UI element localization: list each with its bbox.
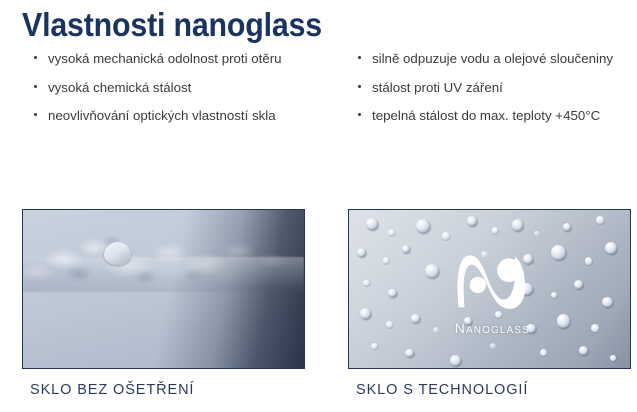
water-droplet: [363, 280, 370, 287]
list-item-label: vysoká mechanická odolnost proti otěru: [48, 51, 282, 66]
feature-list-right: silně odpuzuje vodu a olejové sloučeniny…: [357, 50, 632, 125]
water-droplet: [563, 223, 571, 231]
feature-list-left: vysoká mechanická odolnost proti otěru v…: [33, 50, 333, 125]
bullet-dot-icon: [358, 113, 361, 116]
treated-glass-photo: Nanoglass: [348, 209, 631, 369]
bullet-dot-icon: [34, 56, 37, 59]
water-droplet: [602, 297, 613, 308]
water-droplet: [610, 355, 616, 361]
bullet-dot-icon: [34, 113, 37, 116]
water-droplet: [383, 257, 389, 263]
list-item: tepelná stálost do max. teploty +450°C: [357, 107, 632, 125]
list-item: vysoká mechanická odolnost proti otěru: [33, 50, 333, 68]
untreated-glass-surface: [23, 210, 304, 368]
water-film-edge: [23, 257, 304, 292]
list-item-label: silně odpuzuje vodu a olejové sloučeniny: [372, 51, 613, 66]
untreated-glass-photo: [22, 209, 305, 369]
list-item: neovlivňování optických vlastností skla: [33, 107, 333, 125]
list-item-label: neovlivňování optických vlastností skla: [48, 108, 276, 123]
water-droplet: [366, 218, 378, 230]
water-droplet: [492, 227, 498, 233]
bullet-dot-icon: [358, 85, 361, 88]
water-droplet: [388, 229, 395, 236]
list-item: stálost proti UV záření: [357, 79, 632, 97]
list-item-label: stálost proti UV záření: [372, 80, 503, 95]
water-droplet: [450, 355, 461, 366]
water-droplet: [386, 321, 393, 328]
water-droplet: [557, 314, 570, 327]
water-blob: [104, 242, 131, 266]
list-item: vysoká chemická stálost: [33, 79, 333, 97]
water-droplet: [591, 324, 599, 332]
treated-glass-surface: Nanoglass: [349, 210, 630, 368]
water-droplet: [495, 311, 502, 318]
page-title: Vlastnosti nanoglass: [22, 6, 322, 44]
water-droplet: [467, 216, 477, 225]
bullet-dot-icon: [34, 85, 37, 88]
water-droplet: [481, 251, 488, 258]
water-droplet: [512, 219, 523, 230]
water-droplet: [585, 257, 592, 264]
caption-untreated: SKLO BEZ OŠETŘENÍ: [30, 381, 194, 400]
water-droplet: [526, 324, 536, 333]
list-item: silně odpuzuje vodu a olejové sloučeniny: [357, 50, 632, 68]
bullet-dot-icon: [358, 56, 361, 59]
water-droplet: [388, 289, 396, 297]
list-item-label: vysoká chemická stálost: [48, 80, 191, 95]
water-droplet: [442, 232, 450, 240]
list-item-label: tepelná stálost do max. teploty +450°C: [372, 108, 600, 123]
water-droplet: [490, 343, 496, 349]
water-droplet: [405, 349, 413, 357]
water-droplet: [596, 216, 603, 223]
water-droplet: [402, 245, 410, 253]
water-droplet: [605, 242, 617, 254]
water-droplet: [411, 314, 420, 323]
caption-treated: SKLO S TECHNOLOGIÍ: [356, 381, 528, 400]
